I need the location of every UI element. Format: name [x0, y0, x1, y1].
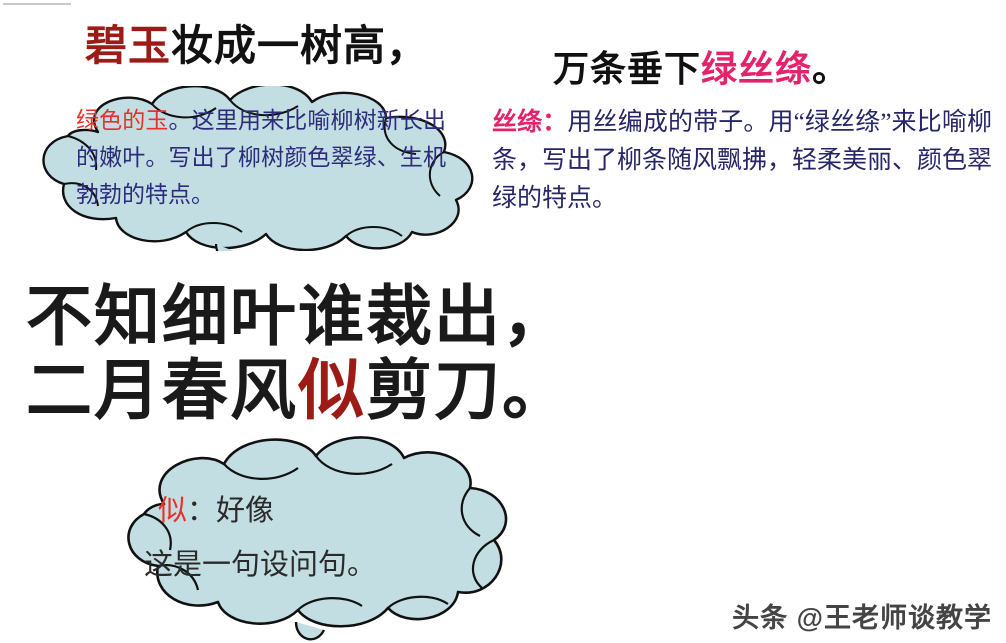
poem-line-4: 二月春风似剪刀。	[26, 337, 570, 433]
explanation-right-term: 丝绦：	[492, 109, 567, 136]
explanation-right-body: 用丝编成的带子。用“绿丝绦”来比喻柳条，写出了柳条随风飘拂，轻柔美丽、颜色翠绿的…	[492, 109, 992, 212]
poem-line-2-suffix: 。	[812, 49, 849, 89]
top-left-line-artifact	[3, 3, 71, 5]
explanation-right: 丝绦：用丝编成的带子。用“绿丝绦”来比喻柳条，写出了柳条随风飘拂，轻柔美丽、颜色…	[492, 104, 992, 218]
poem-line-2-highlight: 绿丝绦	[701, 49, 812, 89]
poem-line-4-prefix: 二月春风	[26, 355, 298, 428]
slide-canvas: 碧玉妆成一树高， 万条垂下绿丝绦。 丝绦：用丝编成的带子。用“绿丝绦”来比喻柳条…	[0, 0, 1006, 643]
cloud-callout-bottom: 似：好像 这是一句设问句。	[100, 432, 530, 643]
poem-line-1-highlight: 碧玉	[85, 24, 171, 70]
poem-line-1-rest: 妆成一树高，	[171, 24, 429, 70]
cloud-top-lead: 绿色的玉	[76, 108, 169, 133]
cloud-bottom-lead: 似	[158, 495, 187, 527]
cloud-bottom-text: 似：好像 这是一句设问句。	[158, 484, 488, 592]
poem-line-2-prefix: 万条垂下	[553, 49, 701, 89]
poem-line-4-highlight: 似	[298, 355, 366, 428]
cloud-bottom-line-1-rest: ：好像	[187, 495, 274, 527]
cloud-top-text: 绿色的玉。这里用来比喻柳树新长出的嫩叶。写出了柳树颜色翠绿、生机勃勃的特点。	[76, 102, 446, 213]
cloud-callout-top: 绿色的玉。这里用来比喻柳树新长出的嫩叶。写出了柳树颜色翠绿、生机勃勃的特点。	[20, 86, 490, 251]
cloud-bottom-line-2: 这是一句设问句。	[144, 538, 488, 592]
poem-line-2: 万条垂下绿丝绦。	[553, 40, 849, 92]
watermark: 头条 @王老师谈教学	[732, 596, 992, 635]
cloud-bottom-line-1: 似：好像	[158, 484, 488, 538]
poem-line-4-suffix: 剪刀。	[366, 355, 570, 428]
poem-line-1: 碧玉妆成一树高，	[85, 12, 429, 73]
